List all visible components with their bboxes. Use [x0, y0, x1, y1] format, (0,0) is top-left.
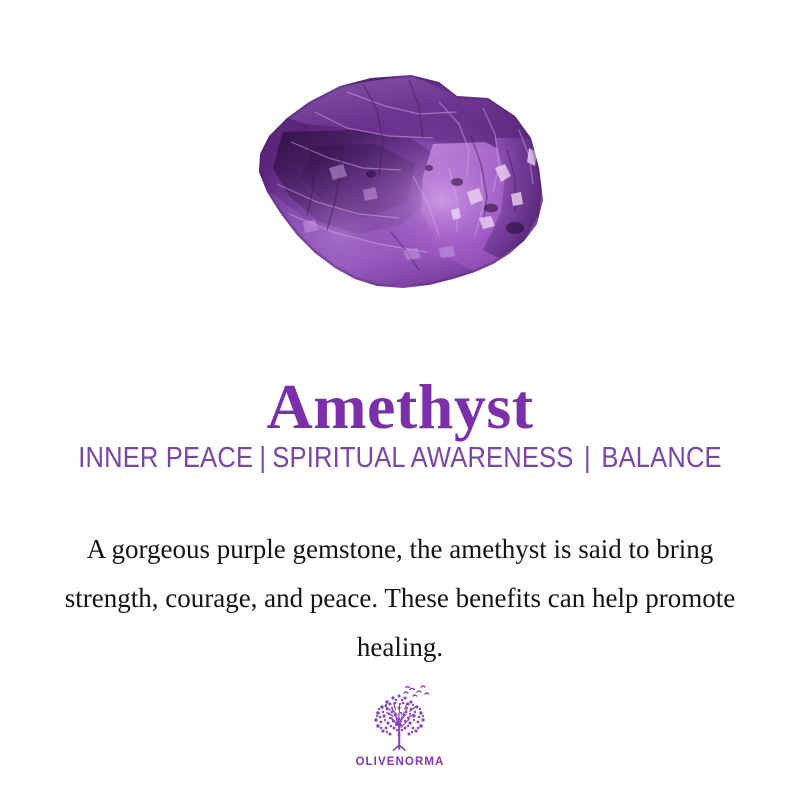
page-title: Amethyst [0, 373, 800, 440]
description-text: A gorgeous purple gemstone, the amethyst… [40, 525, 760, 672]
tree-of-life-icon [357, 683, 443, 753]
raw-amethyst-crystal-image [243, 72, 563, 302]
birds-icon [404, 686, 429, 696]
keyword-spiritual-awareness: SPIRITUAL AWARENESS [272, 442, 573, 474]
brand-logo: OLIVENORMA [330, 683, 470, 768]
keyword-strip: INNER PEACE|SPIRITUAL AWARENESS|BALANCE [48, 442, 752, 475]
gemstone-image-container [0, 0, 800, 320]
keyword-separator-1: | [253, 442, 272, 474]
amethyst-info-card: Amethyst INNER PEACE|SPIRITUAL AWARENESS… [0, 0, 800, 800]
keyword-balance: BALANCE [601, 442, 721, 474]
brand-name: OLIVENORMA [330, 756, 470, 768]
keyword-inner-peace: INNER PEACE [78, 442, 253, 474]
keyword-separator-2: | [573, 442, 601, 474]
